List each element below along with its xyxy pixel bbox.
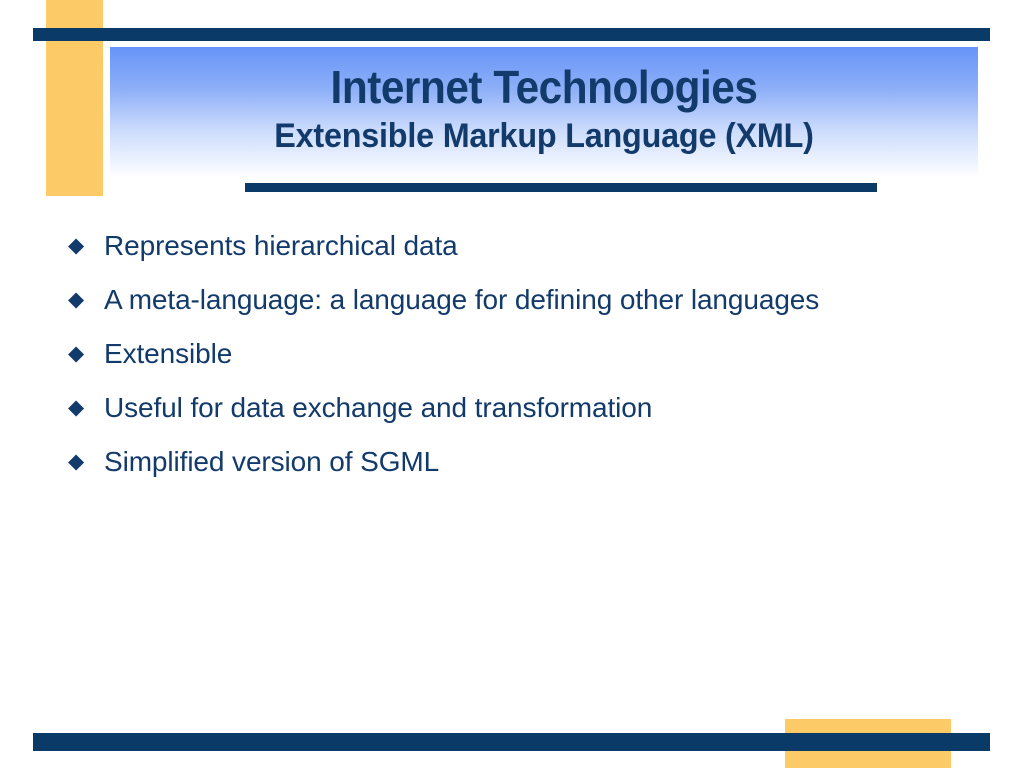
page-title: Internet Technologies	[145, 47, 944, 115]
diamond-bullet-icon: ◆	[66, 438, 86, 485]
slide-canvas: Internet Technologies Extensible Markup …	[0, 0, 1024, 768]
header-rule-top	[33, 28, 990, 41]
header-rule-bottom	[245, 183, 877, 192]
list-item: ◆ A meta-language: a language for defini…	[62, 276, 962, 323]
list-item-label: Extensible	[104, 330, 864, 377]
diamond-bullet-icon: ◆	[66, 276, 86, 323]
list-item-label: Represents hierarchical data	[104, 222, 864, 269]
list-item-label: Useful for data exchange and transformat…	[104, 384, 864, 431]
footer-rule	[33, 733, 990, 751]
list-item-label: Simplified version of SGML	[104, 438, 864, 485]
list-item: ◆ Simplified version of SGML	[62, 438, 962, 485]
list-item-label: A meta-language: a language for defining…	[104, 276, 864, 323]
diamond-bullet-icon: ◆	[66, 222, 86, 269]
diamond-bullet-icon: ◆	[66, 330, 86, 377]
list-item: ◆ Useful for data exchange and transform…	[62, 384, 962, 431]
page-subtitle: Extensible Markup Language (XML)	[132, 115, 957, 157]
title-block: Internet Technologies Extensible Markup …	[110, 47, 978, 178]
diamond-bullet-icon: ◆	[66, 384, 86, 431]
list-item: ◆ Extensible	[62, 330, 962, 377]
bullet-list: ◆ Represents hierarchical data ◆ A meta-…	[62, 222, 962, 492]
list-item: ◆ Represents hierarchical data	[62, 222, 962, 269]
